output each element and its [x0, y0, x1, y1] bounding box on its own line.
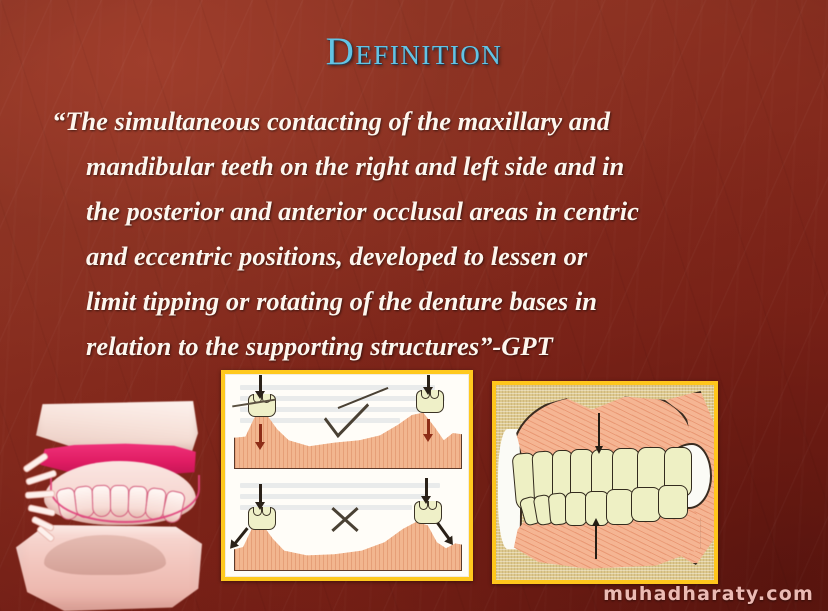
quote-line-6: relation to the supporting structures”-G… [52, 324, 794, 369]
slide-canvas: Definition “The simultaneous contacting … [0, 0, 828, 611]
tooth-right-incorrect [414, 501, 442, 524]
cast-body [10, 399, 206, 611]
dental-cast-photo [10, 399, 206, 611]
quote-line-3: the posterior and anterior occlusal area… [52, 189, 794, 234]
ridge-force-arrow-left [259, 424, 262, 443]
load-arrow-right-top [427, 375, 430, 388]
definition-quote: “The simultaneous contacting of the maxi… [52, 99, 794, 369]
tooth-l6 [606, 489, 634, 525]
check-mark-icon [324, 387, 369, 438]
quote-line-5: limit tipping or rotating of the denture… [52, 279, 794, 324]
balanced-occlusion-inner [496, 385, 714, 580]
x-mark-icon [328, 502, 362, 536]
load-arrow-left-top [259, 375, 262, 392]
tooth-l7 [631, 487, 661, 522]
quote-line-4: and eccentric positions, developed to le… [52, 234, 794, 279]
ridge-loading-inner [225, 374, 469, 577]
balanced-occlusion-diagram [492, 381, 718, 584]
tooth-l8 [658, 485, 688, 519]
panel-incorrect [226, 476, 468, 577]
load-arrow-right-bottom [425, 478, 428, 497]
watermark: muhadharaty.com [603, 583, 814, 605]
page-title: Definition [0, 32, 828, 71]
load-arrow-left-bottom [259, 484, 262, 503]
ridge-force-arrow-right [427, 419, 430, 435]
quote-line-2: mandibular teeth on the right and left s… [52, 144, 794, 189]
deflect-arrow-right [436, 522, 450, 540]
tooth-l4 [565, 492, 587, 526]
cast-clasp-cluster [22, 463, 80, 535]
ridge-loading-diagram [221, 370, 473, 581]
tooth-left-incorrect [248, 507, 276, 530]
occlusal-force-arrow-up [595, 525, 597, 559]
occlusal-force-arrow-down [598, 413, 600, 447]
quote-line-1: “The simultaneous contacting of the maxi… [52, 99, 794, 144]
panel-correct [226, 375, 468, 475]
